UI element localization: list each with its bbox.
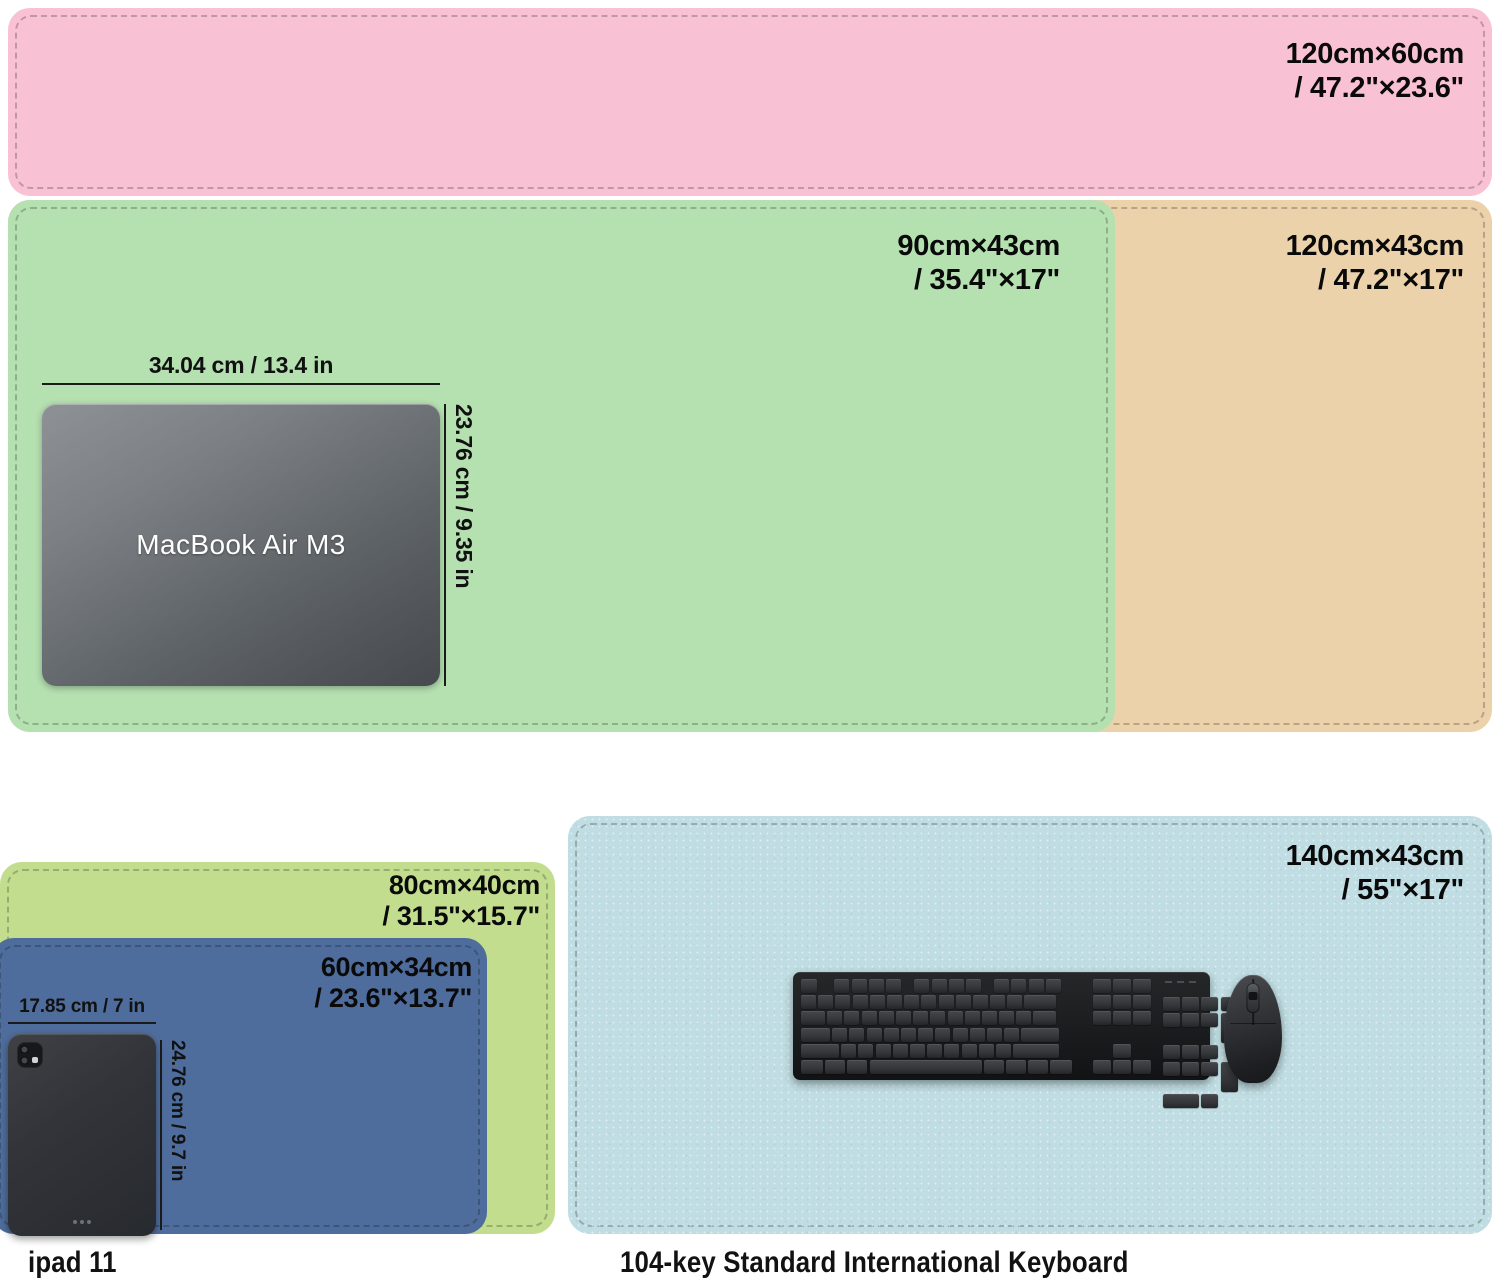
desk-mat-pink-120x60 xyxy=(8,8,1492,196)
ipad-height-label: 24.76 cm / 9.7 in xyxy=(162,1040,188,1181)
camera-lens-icon xyxy=(20,1045,29,1054)
ipad-width-measurement: 17.85 cm / 7 in xyxy=(8,996,156,1024)
size-label-tan: 120cm×43cm / 47.2"×17" xyxy=(1286,230,1464,297)
macbook-width-rule xyxy=(42,383,440,385)
macbook-air-m3-device: MacBook Air M3 xyxy=(42,404,440,686)
size-label-olive: 80cm×40cm / 31.5"×15.7" xyxy=(230,870,540,933)
macbook-width-label: 34.04 cm / 13.4 in xyxy=(42,352,440,383)
keyboard-row-zxcv xyxy=(801,1044,1085,1058)
keyboard-row-number xyxy=(801,995,1085,1009)
keyboard-104-key xyxy=(793,972,1210,1080)
mouse-seam xyxy=(1230,1023,1276,1025)
keyboard-indicator-leds xyxy=(1165,981,1196,983)
ipad-width-rule xyxy=(8,1022,156,1024)
camera-flash-icon xyxy=(32,1057,38,1063)
macbook-width-measurement: 34.04 cm / 13.4 in xyxy=(42,352,440,385)
stitching-pink xyxy=(15,15,1485,189)
keyboard-row-asdf xyxy=(801,1028,1085,1042)
ipad-height-measurement: 24.76 cm / 9.7 in xyxy=(160,1040,188,1230)
product-size-comparison-infographic: 120cm×60cm / 47.2"×23.6" 120cm×43cm / 47… xyxy=(0,0,1500,1285)
camera-lens-icon xyxy=(20,1056,29,1065)
keyboard-nav-cluster xyxy=(1093,979,1155,1076)
macbook-height-label: 23.76 cm / 9.35 in xyxy=(446,404,477,588)
camera-module-icon xyxy=(17,1042,43,1068)
caption-keyboard: 104-key Standard International Keyboard xyxy=(620,1246,1129,1280)
wireless-mouse-device xyxy=(1224,975,1282,1083)
size-label-green: 90cm×43cm / 35.4"×17" xyxy=(700,230,1060,297)
ipad-width-label: 17.85 cm / 7 in xyxy=(8,996,156,1022)
macbook-name-label: MacBook Air M3 xyxy=(136,529,345,561)
keyboard-row-qwerty xyxy=(801,1011,1085,1025)
size-label-pink: 120cm×60cm / 47.2"×23.6" xyxy=(1286,38,1464,105)
smart-connector-icon xyxy=(73,1220,91,1224)
ipad-11-device xyxy=(8,1034,156,1236)
caption-ipad: ipad 11 xyxy=(28,1246,117,1280)
size-label-teal: 140cm×43cm / 55"×17" xyxy=(1286,840,1464,907)
mouse-scroll-wheel xyxy=(1247,983,1260,1013)
macbook-height-measurement: 23.76 cm / 9.35 in xyxy=(444,404,477,686)
keyboard-row-modifier xyxy=(801,1060,1085,1074)
size-label-blue: 60cm×34cm / 23.6"×13.7" xyxy=(180,952,472,1015)
keyboard-row-function xyxy=(801,979,1085,993)
keyboard-main-block xyxy=(801,979,1085,1076)
